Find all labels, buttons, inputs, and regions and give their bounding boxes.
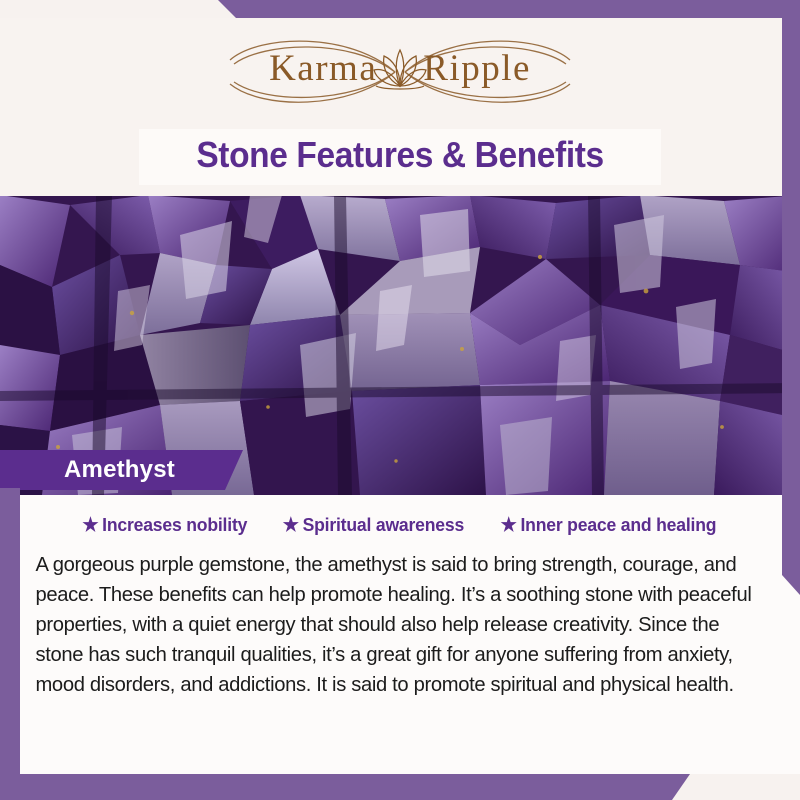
brand-logo: Karma Ripple xyxy=(190,26,610,110)
section-title-plate: Stone Features & Benefits xyxy=(139,129,661,185)
frame-right-accent xyxy=(782,0,800,595)
frame-left-accent xyxy=(0,488,20,800)
stone-name: Amethyst xyxy=(0,456,175,484)
benefit-item-3: ★ Inner peace and healing xyxy=(500,514,716,536)
star-icon: ★ xyxy=(83,516,99,535)
section-title-band: Stone Features & Benefits xyxy=(0,118,800,196)
stone-name-banner: Amethyst xyxy=(0,450,243,490)
benefit-item-2: ★ Spiritual awareness xyxy=(283,514,464,536)
brand-header: Karma Ripple xyxy=(0,18,800,118)
star-icon: ★ xyxy=(500,516,516,535)
benefit-label-1: Increases nobility xyxy=(102,514,247,536)
product-info-card: Karma Ripple Stone Features & Benefits A… xyxy=(0,0,800,800)
page-title: Stone Features & Benefits xyxy=(196,134,603,176)
star-icon: ★ xyxy=(283,516,299,535)
stone-details-panel: ★ Increases nobility ★ Spiritual awarene… xyxy=(0,495,800,775)
stone-description: A gorgeous purple gemstone, the amethyst… xyxy=(0,536,788,700)
benefit-item-1: ★ Increases nobility xyxy=(83,514,248,536)
benefit-label-2: Spiritual awareness xyxy=(302,514,463,536)
benefit-label-3: Inner peace and healing xyxy=(520,514,716,536)
brand-word-karma: Karma xyxy=(269,47,377,90)
brand-word-ripple: Ripple xyxy=(423,47,531,90)
benefits-list: ★ Increases nobility ★ Spiritual awarene… xyxy=(0,495,800,536)
brand-logo-text: Karma Ripple xyxy=(269,47,531,90)
frame-top-accent xyxy=(0,0,800,18)
